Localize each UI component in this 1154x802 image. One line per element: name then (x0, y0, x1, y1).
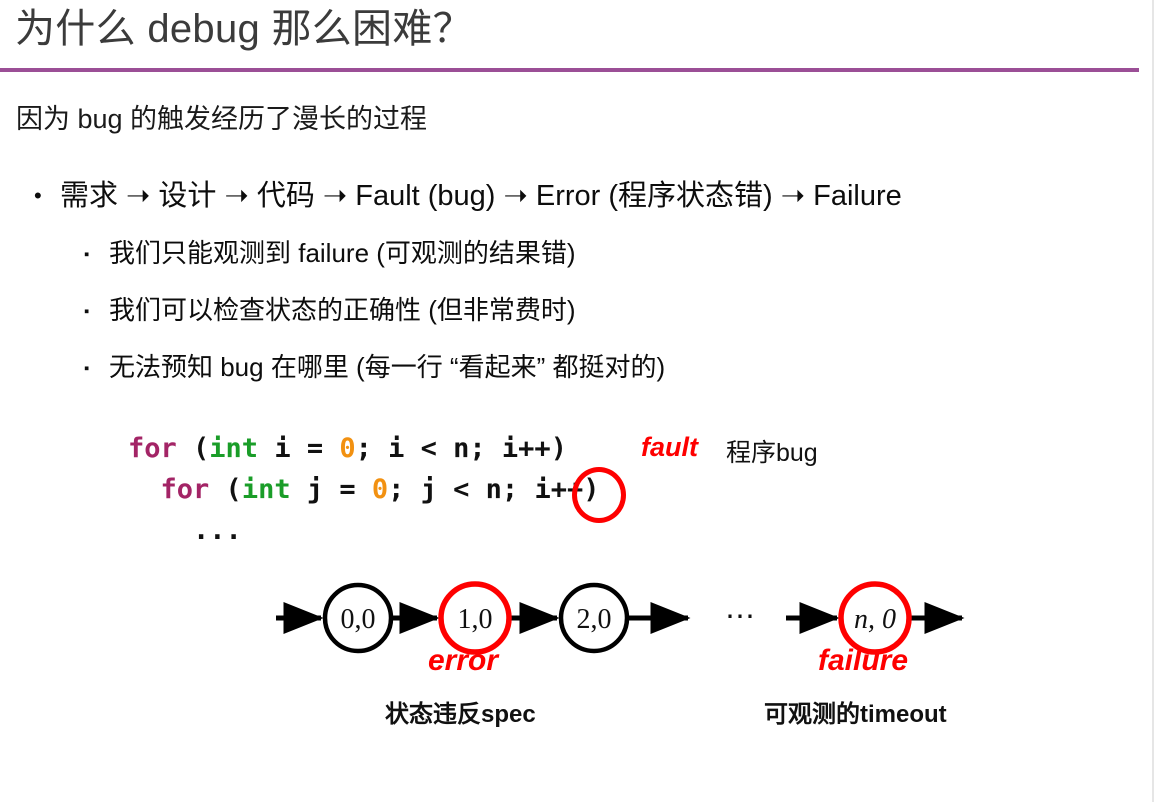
code-token: 0 (372, 474, 388, 505)
code-line: ... (128, 510, 599, 551)
page-title: 为什么 debug 那么困难？ (15, 4, 473, 54)
title-divider (0, 68, 1139, 72)
code-token: for (161, 474, 210, 505)
subtitle-text: 因为 bug 的触发经历了漫长的过程 (16, 97, 427, 136)
diagram-node-label: 1,0 (458, 604, 493, 635)
annotation-fault: fault (641, 432, 698, 463)
code-token: int (209, 433, 258, 464)
state-diagram: 0,01,02,0n, 0 ⋯ error failure 状态违反spec 可… (0, 560, 1154, 740)
diagram-node-s2: 2,0 (561, 585, 627, 651)
diagram-node-s1: 1,0 (441, 584, 509, 652)
bullet-square-icon: ▪ (84, 360, 109, 377)
diagram-caption-error: 状态违反spec (385, 694, 536, 729)
bullet-square-icon: ▪ (84, 246, 109, 263)
diagram-node-sn: n, 0 (841, 584, 909, 652)
code-line: for (int j = 0; j < n; i++) (128, 469, 599, 510)
code-token (128, 474, 161, 505)
bullet-level1-0: •需求 ➝ 设计 ➝ 代码 ➝ Fault (bug) ➝ Error (程序状… (34, 172, 902, 214)
code-line: for (int i = 0; i < n; i++) (128, 428, 599, 469)
bullet-level1-label: 需求 ➝ 设计 ➝ 代码 ➝ Fault (bug) ➝ Error (程序状态… (60, 180, 902, 212)
diagram-caption-failure: 可观测的timeout (764, 694, 947, 729)
code-token: int (242, 474, 291, 505)
bullet-square-icon: ▪ (84, 303, 109, 320)
code-token: i = (258, 433, 339, 464)
state-diagram-svg: 0,01,02,0n, 0 ⋯ (0, 560, 1154, 740)
diagram-node-label: n, 0 (854, 604, 896, 635)
code-token: for (128, 433, 177, 464)
code-token: ; j < n; i++) (388, 474, 599, 505)
bullet-level2-0: ▪我们只能观测到 failure (可观测的结果错) (84, 233, 576, 270)
bullet-level2-2: ▪无法预知 bug 在哪里 (每一行 “看起来” 都挺对的) (84, 347, 665, 384)
code-token: ... (128, 515, 242, 546)
annotation-fault-chinese: 程序bug (726, 433, 818, 469)
bullet-level2-label: 我们可以检查状态的正确性 (但非常费时) (109, 295, 576, 325)
diagram-label-failure: failure (818, 644, 908, 678)
code-token: j = (291, 474, 372, 505)
code-block: for (int i = 0; i < n; i++) for (int j =… (128, 428, 599, 551)
diagram-label-error: error (428, 644, 498, 678)
code-token: ; i < n; i++) (356, 433, 567, 464)
diagram-ellipsis: ⋯ (725, 600, 755, 633)
bullet-level2-label: 我们只能观测到 failure (可观测的结果错) (109, 238, 576, 268)
diagram-node-label: 2,0 (577, 604, 612, 635)
diagram-node-label: 0,0 (341, 604, 376, 635)
code-token: ( (209, 474, 242, 505)
bullet-level2-label: 无法预知 bug 在哪里 (每一行 “看起来” 都挺对的) (109, 352, 665, 382)
diagram-node-s0: 0,0 (325, 585, 391, 651)
slide-canvas: 为什么 debug 那么困难？ 因为 bug 的触发经历了漫长的过程 •需求 ➝… (0, 0, 1154, 802)
bullet-dot-icon: • (34, 183, 60, 209)
code-token: ( (177, 433, 210, 464)
highlight-ellipse-icon (572, 467, 626, 523)
code-token: 0 (339, 433, 355, 464)
bullet-level2-1: ▪我们可以检查状态的正确性 (但非常费时) (84, 290, 576, 327)
